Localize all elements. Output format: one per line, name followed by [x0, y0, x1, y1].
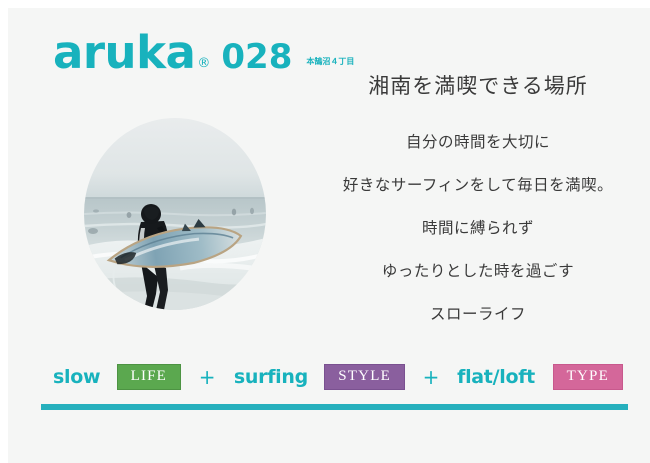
badge-life: LIFE	[117, 364, 181, 390]
property-address: 本鵠沼４丁目	[306, 56, 354, 67]
badge-style: STYLE	[324, 364, 405, 390]
tag-slow-label: slow	[53, 366, 100, 388]
copy-title: 湘南を満喫できる場所	[308, 70, 648, 100]
surfer-photo	[84, 118, 266, 310]
tag-row: slow LIFE + surfing STYLE + flat/loft TY…	[53, 360, 623, 394]
tag-surfing-label: surfing	[234, 366, 308, 388]
surfer-photo-illustration	[84, 118, 266, 310]
brand-header: aruka ® 028 本鵠沼４丁目	[53, 30, 354, 75]
brand-name: aruka	[53, 30, 195, 75]
badge-type: TYPE	[553, 364, 623, 390]
registered-trademark-icon: ®	[197, 56, 210, 71]
tag-flatloft-label: flat/loft	[457, 366, 535, 388]
copy-line-5: スローライフ	[308, 302, 648, 324]
copy-block: 湘南を満喫できる場所 自分の時間を大切に 好きなサーフィンをして毎日を満喫。 時…	[308, 70, 648, 324]
copy-line-3: 時間に縛られず	[308, 216, 648, 238]
copy-line-2: 好きなサーフィンをして毎日を満喫。	[308, 173, 648, 195]
copy-line-4: ゆったりとした時を過ごす	[308, 259, 648, 281]
plus-separator-1: +	[199, 365, 216, 389]
copy-line-1: 自分の時間を大切に	[308, 130, 648, 152]
plus-separator-2: +	[423, 365, 440, 389]
page-canvas: aruka ® 028 本鵠沼４丁目	[8, 8, 650, 463]
teal-divider-rule	[41, 404, 628, 410]
property-serial-number: 028	[221, 40, 292, 74]
